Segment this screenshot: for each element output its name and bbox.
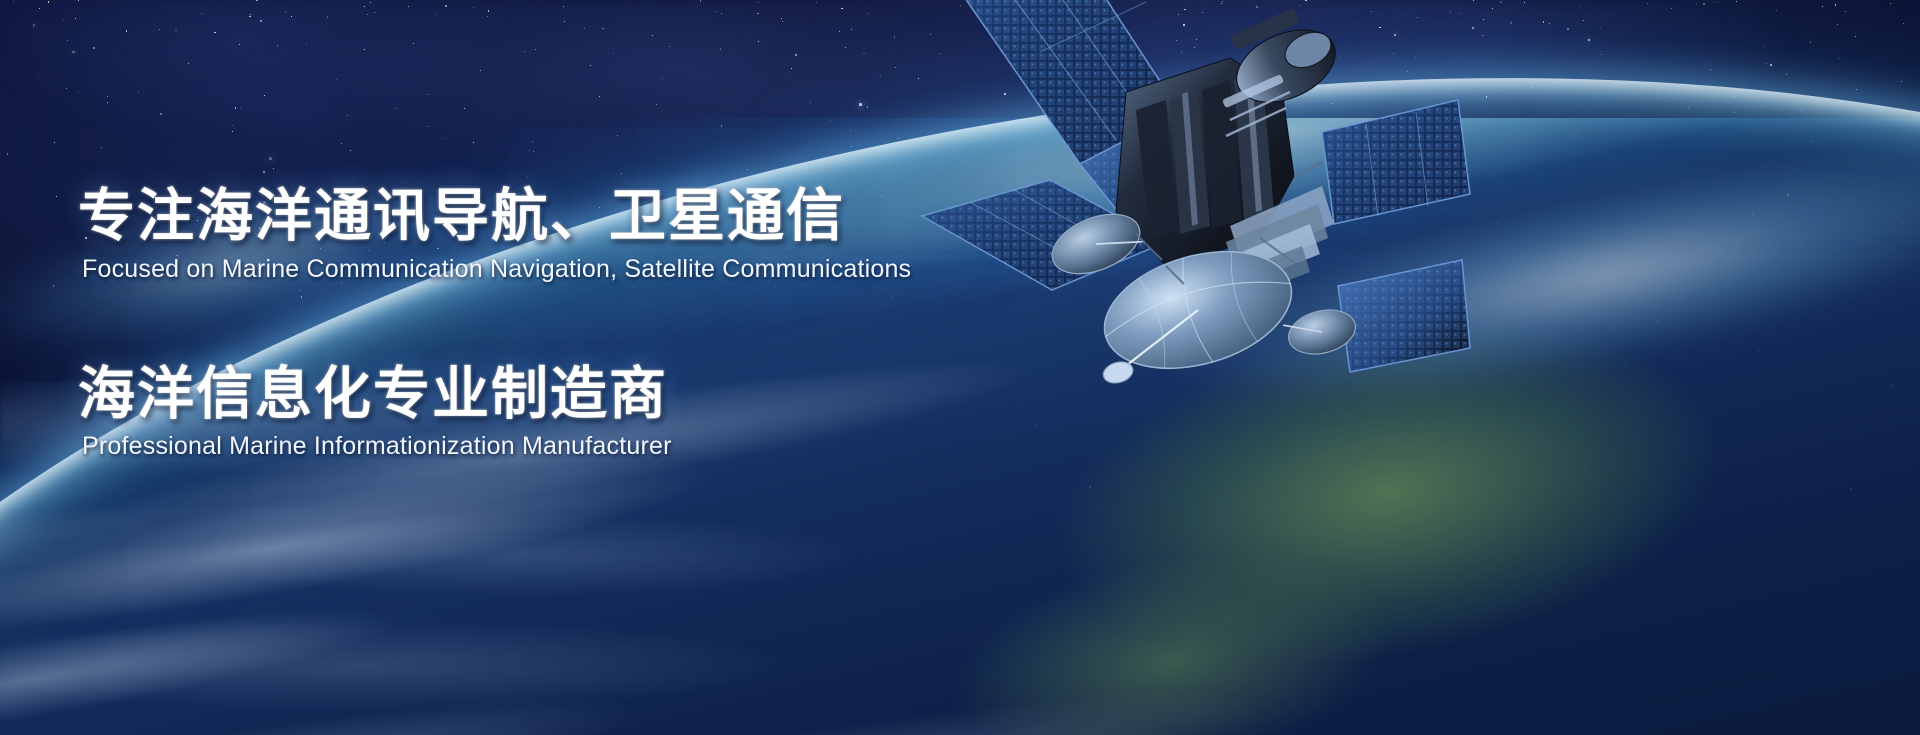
headline-block-2: 海洋信息化专业制造商 Professional Marine Informati…	[78, 364, 1078, 462]
headline-english-1: Focused on Marine Communication Navigati…	[82, 254, 1078, 284]
headline-copy: 专注海洋通讯导航、卫星通信 Focused on Marine Communic…	[78, 186, 1078, 461]
headline-chinese-2: 海洋信息化专业制造商	[78, 364, 1078, 426]
headline-english-2: Professional Marine Informationization M…	[82, 431, 1078, 461]
hero-banner: 专注海洋通讯导航、卫星通信 Focused on Marine Communic…	[0, 0, 1920, 735]
headline-chinese-1: 专注海洋通讯导航、卫星通信	[78, 186, 1078, 248]
headline-block-1: 专注海洋通讯导航、卫星通信 Focused on Marine Communic…	[78, 186, 1078, 284]
